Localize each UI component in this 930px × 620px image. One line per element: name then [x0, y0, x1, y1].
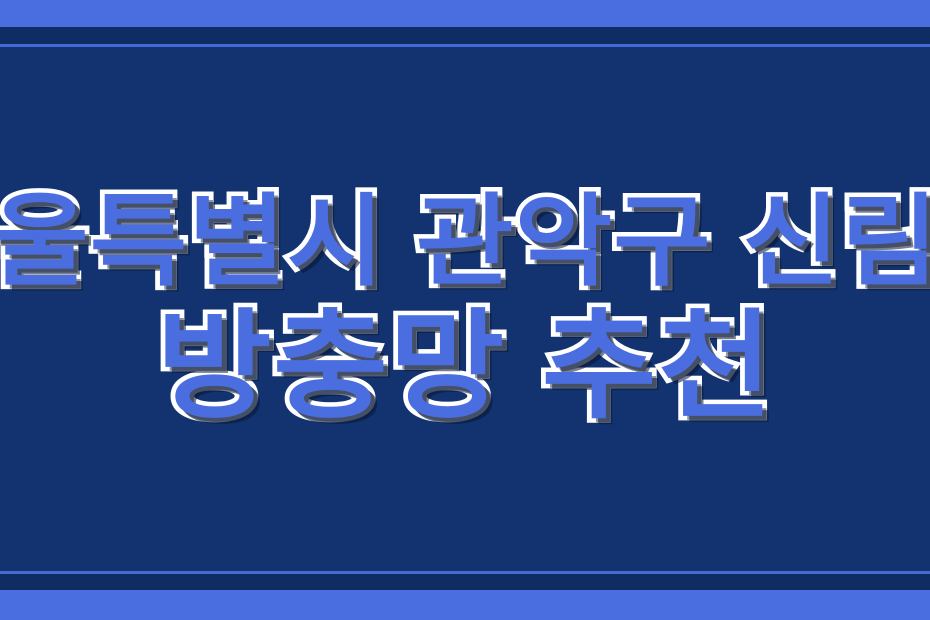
bottom-accent-band: [0, 590, 930, 620]
title-block: 서울특별시 관악구 신림동 방충망 추천: [0, 47, 930, 571]
title-line-primary: 서울특별시 관악구 신림동: [0, 191, 930, 293]
thumbnail-card: 서울특별시 관악구 신림동 방충망 추천: [0, 0, 930, 620]
bottom-dark-strip: [0, 574, 930, 590]
top-dark-strip: [0, 27, 930, 44]
top-accent-band: [0, 0, 930, 27]
title-line-secondary: 방충망 추천: [156, 307, 774, 427]
